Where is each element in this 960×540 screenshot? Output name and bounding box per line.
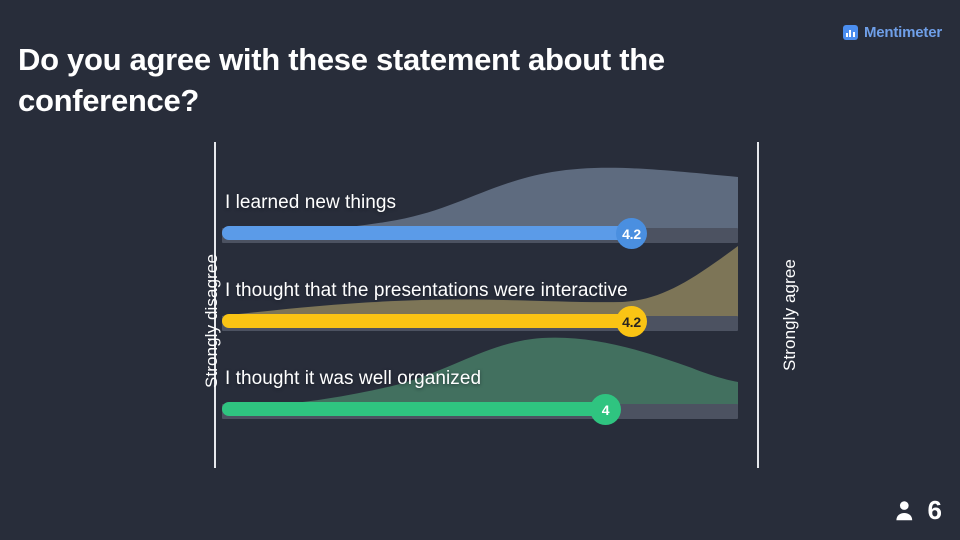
row-bar [222, 402, 606, 416]
statement-label: I thought it was well organized [225, 368, 481, 390]
status-badge: 4 [590, 394, 621, 425]
axis-line-right [757, 142, 759, 468]
statement-label: I thought that the presentations were in… [225, 280, 628, 302]
statement-label: I learned new things [225, 192, 396, 214]
distribution-curve [222, 140, 738, 236]
distribution-curve [222, 316, 738, 412]
scales-chart: Strongly disagree Strongly agree I learn… [0, 0, 960, 540]
axis-label-strongly-agree: Strongly agree [780, 259, 800, 371]
distribution-curve [222, 228, 738, 324]
person-icon [894, 498, 920, 524]
participant-count: 6 [928, 495, 942, 526]
axis-label-strongly-disagree: Strongly disagree [202, 254, 222, 388]
participant-counter: 6 [894, 495, 942, 526]
statement-row: I thought it was well organized 4 [222, 316, 738, 426]
